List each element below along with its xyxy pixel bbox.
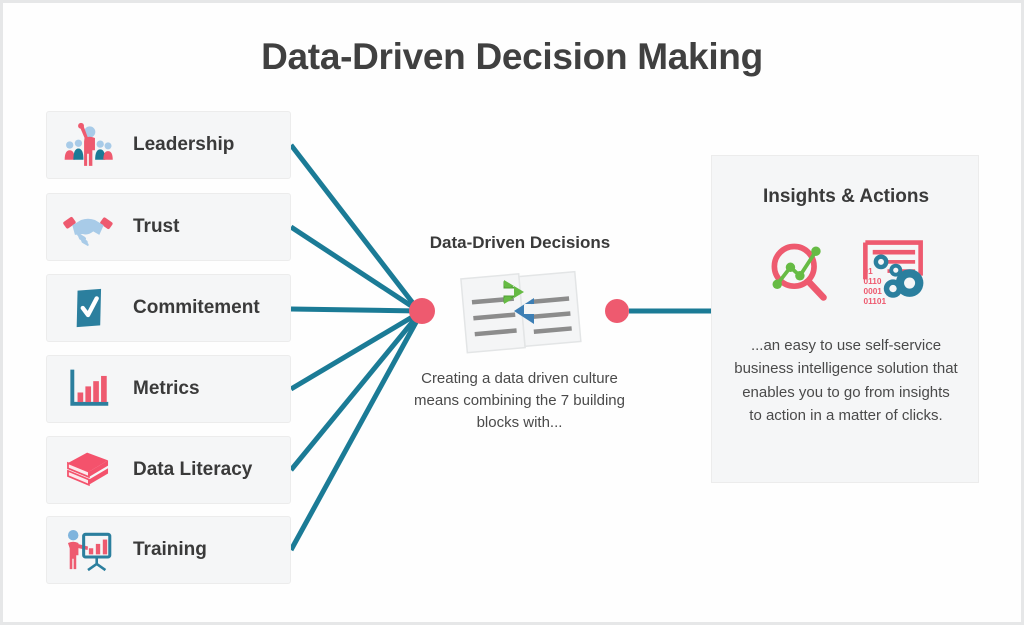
svg-text:01101: 01101 xyxy=(864,297,887,306)
block-label: Trust xyxy=(133,216,179,238)
block-label: Leadership xyxy=(133,134,234,156)
block-card-training[interactable]: Training xyxy=(46,516,291,584)
block-label: Commitement xyxy=(133,297,260,319)
block-card-data-literacy[interactable]: Data Literacy xyxy=(46,436,291,504)
block-card-commitement[interactable]: Commitement xyxy=(46,274,291,342)
center-title: Data-Driven Decisions xyxy=(400,233,640,253)
panel-icon-row: 01 0110 0001 01101 xyxy=(712,228,980,320)
connector-dataliteracy xyxy=(291,314,419,470)
training-icon xyxy=(57,522,119,578)
magnifier-chart-icon xyxy=(764,238,832,311)
insights-panel: Insights & Actions 01 0110 00 xyxy=(711,155,979,483)
checkbox-icon xyxy=(57,280,119,336)
panel-description: ...an easy to use self-service business … xyxy=(734,334,958,427)
connector-commitement xyxy=(291,309,419,311)
relay-node xyxy=(605,299,629,323)
connector-leadership xyxy=(291,145,419,311)
center-description: Creating a data driven culture means com… xyxy=(412,368,627,433)
block-card-trust[interactable]: Trust xyxy=(46,193,291,261)
block-card-leadership[interactable]: Leadership xyxy=(46,111,291,179)
panel-title: Insights & Actions xyxy=(712,186,980,208)
document-exchange-icon xyxy=(452,268,588,358)
bar-chart-icon xyxy=(57,361,119,417)
svg-text:01: 01 xyxy=(864,266,874,275)
handshake-icon xyxy=(57,199,119,255)
block-label: Metrics xyxy=(133,378,200,400)
svg-text:0001: 0001 xyxy=(864,287,883,296)
block-label: Data Literacy xyxy=(133,459,252,481)
block-card-metrics[interactable]: Metrics xyxy=(46,355,291,423)
books-icon xyxy=(57,442,119,498)
hub-node xyxy=(409,298,435,324)
svg-text:0110: 0110 xyxy=(864,276,882,285)
block-label: Training xyxy=(133,539,207,561)
leadership-icon xyxy=(57,117,119,173)
binary-gears-icon: 01 0110 0001 01101 xyxy=(858,237,928,312)
